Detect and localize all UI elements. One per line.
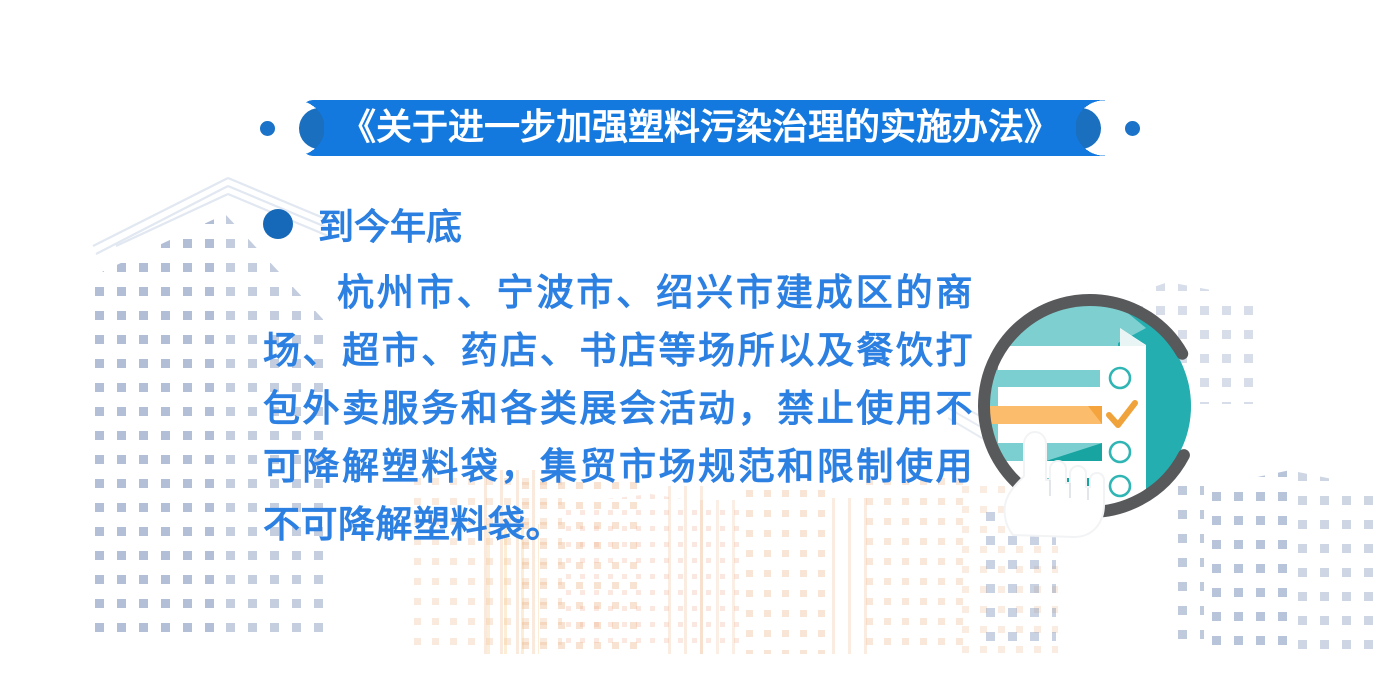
decoration-dot-small-right — [1125, 121, 1140, 136]
poster-page: 《关于进一步加强塑料污染治理的实施办法》 到今年底 杭州市、宁波市、绍兴市建成区… — [0, 0, 1400, 700]
list-bar-1 — [996, 370, 1100, 387]
bullet-circle-icon — [263, 209, 293, 239]
body-paragraph: 杭州市、宁波市、绍兴市建成区的商场、超市、药店、书店等场所以及餐饮打包外卖服务和… — [263, 264, 973, 554]
decoration-dot-small-left — [260, 121, 275, 136]
subtitle-row: 到今年底 — [263, 198, 462, 250]
title-banner-row: 《关于进一步加强塑料污染治理的实施办法》 — [0, 95, 1400, 161]
building-blue-e — [1298, 472, 1378, 654]
subtitle-label: 到今年底 — [318, 198, 462, 250]
checklist-illustration — [968, 288, 1218, 538]
page-title: 《关于进一步加强塑料污染治理的实施办法》 — [340, 100, 1060, 156]
title-banner: 《关于进一步加强塑料污染治理的实施办法》 — [324, 100, 1076, 156]
building-blue-d — [1212, 468, 1300, 654]
building-left-face-a — [95, 215, 223, 645]
list-bar-2 — [988, 406, 1102, 424]
